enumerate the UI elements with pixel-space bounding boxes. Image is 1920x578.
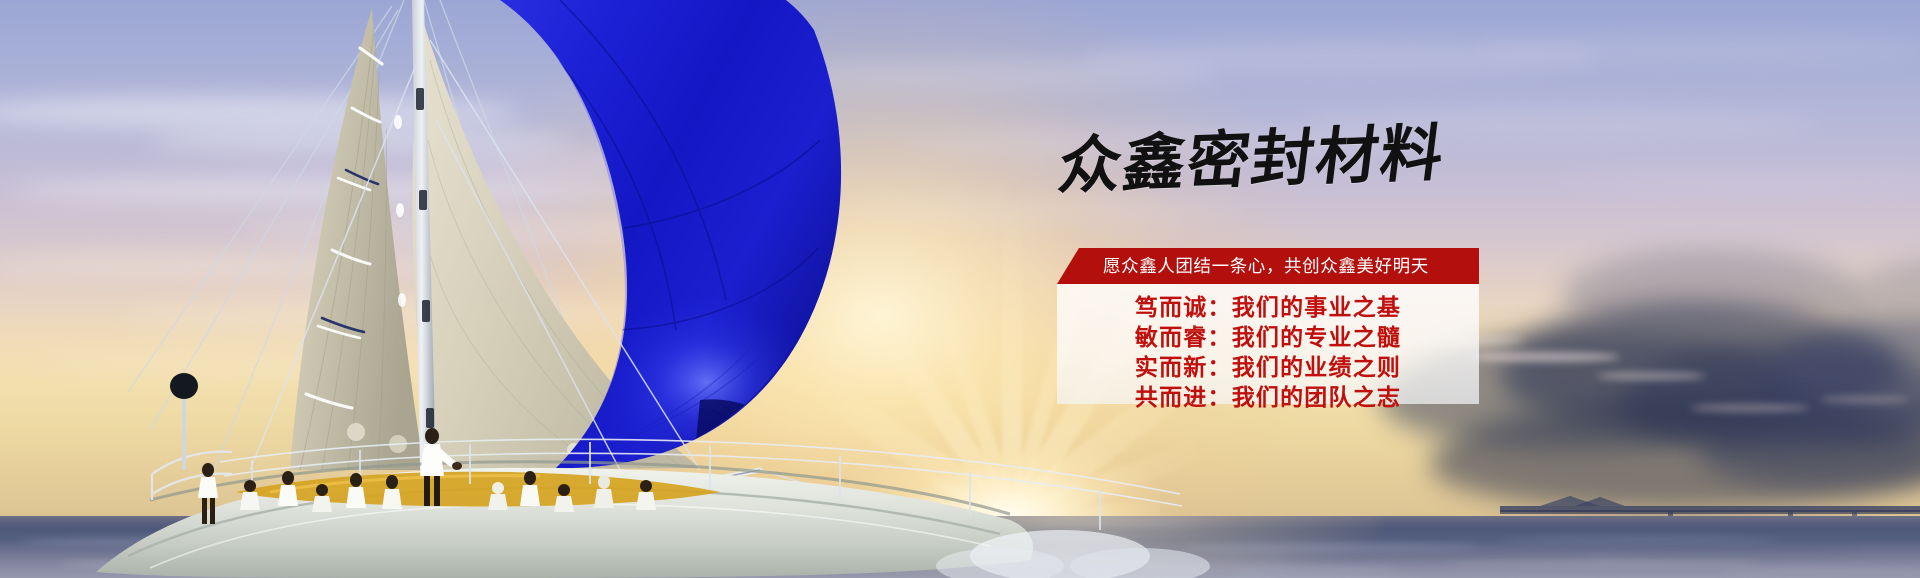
value-line: 实而新：我们的业绩之则 [1057,348,1479,382]
value-line: 笃而诚：我们的事业之基 [1057,288,1479,322]
ocean [0,516,1920,578]
slogan-text: 愿众鑫人团结一条心，共创众鑫美好明天 [1103,248,1429,284]
value-line: 共而进：我们的团队之志 [1057,378,1479,412]
sky-background [0,0,1920,516]
page-title: 众鑫密封材料 [1054,113,1496,206]
slogan-banner: 愿众鑫人团结一条心，共创众鑫美好明天 [1057,248,1479,284]
hero-banner: 众鑫密封材料 愿众鑫人团结一条心，共创众鑫美好明天 笃而诚：我们的事业之基 敏而… [0,0,1920,578]
value-line: 敏而睿：我们的专业之髓 [1057,318,1479,352]
values-panel: 笃而诚：我们的事业之基 敏而睿：我们的专业之髓 实而新：我们的业绩之则 共而进：… [1057,284,1479,404]
